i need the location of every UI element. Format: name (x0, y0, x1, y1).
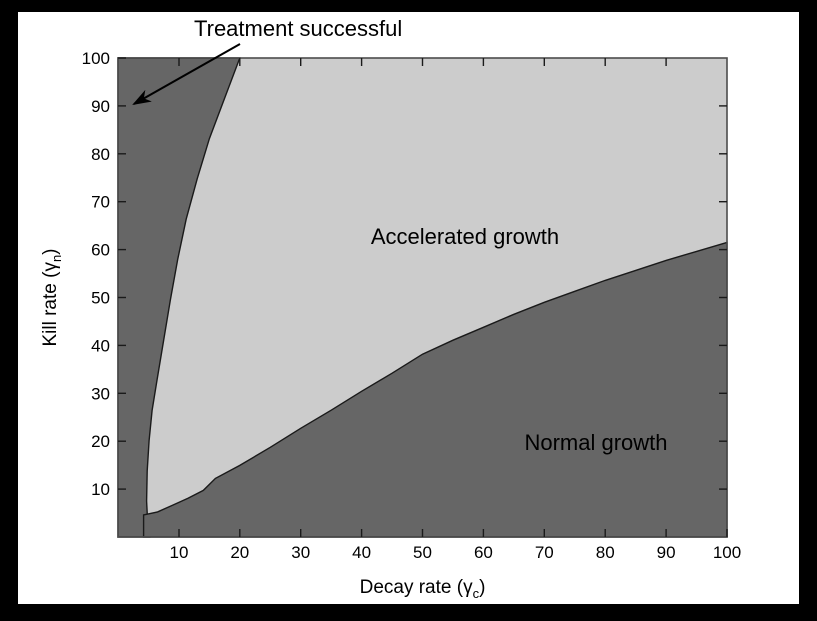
x-tick-label: 50 (413, 543, 432, 562)
y-tick-label: 10 (91, 480, 110, 499)
y-axis-title-close: ) (40, 248, 61, 254)
x-axis-title: Decay rate (γc) (360, 577, 486, 601)
x-tick-labels: 10 20 30 40 50 60 70 80 90 100 (170, 543, 742, 562)
figure-canvas: 10 20 30 40 50 60 70 80 90 100 10 20 30 … (18, 12, 799, 604)
y-axis-title-subscript: n (49, 255, 64, 262)
y-tick-label: 30 (91, 384, 110, 403)
y-tick-labels: 10 20 30 40 50 60 70 80 90 100 (82, 49, 110, 499)
phase-diagram-chart: 10 20 30 40 50 60 70 80 90 100 10 20 30 … (18, 12, 799, 604)
x-tick-label: 30 (291, 543, 310, 562)
y-tick-label: 50 (91, 289, 110, 308)
figure-root: 10 20 30 40 50 60 70 80 90 100 10 20 30 … (0, 0, 817, 621)
x-tick-label: 70 (535, 543, 554, 562)
y-axis-title-gamma: γ (40, 262, 61, 272)
annotation-label-treatment-successful: Treatment successful (194, 16, 402, 41)
y-tick-label: 80 (91, 145, 110, 164)
y-axis-title-text: Kill rate ( (40, 271, 61, 347)
region-label-accelerated-growth: Accelerated growth (371, 224, 559, 249)
svg-text:Decay rate (γc): Decay rate (γc) (360, 577, 486, 601)
x-tick-label: 80 (596, 543, 615, 562)
y-tick-label: 90 (91, 97, 110, 116)
region-label-normal-growth: Normal growth (524, 430, 667, 455)
x-axis-title-close: ) (479, 577, 485, 598)
y-axis-title: Kill rate (γn) (40, 248, 64, 346)
y-tick-label: 100 (82, 49, 110, 68)
x-tick-label: 90 (657, 543, 676, 562)
x-tick-label: 60 (474, 543, 493, 562)
x-tick-label: 10 (170, 543, 189, 562)
y-tick-label: 40 (91, 336, 110, 355)
plot-regions (118, 58, 727, 537)
x-tick-label: 40 (352, 543, 371, 562)
y-tick-label: 70 (91, 193, 110, 212)
x-tick-label: 20 (230, 543, 249, 562)
x-axis-title-gamma: γ (463, 577, 473, 598)
svg-text:Kill rate (γn): Kill rate (γn) (40, 248, 64, 346)
x-tick-label: 100 (713, 543, 741, 562)
y-tick-label: 20 (91, 432, 110, 451)
y-tick-label: 60 (91, 241, 110, 260)
x-axis-title-text: Decay rate ( (360, 577, 464, 598)
